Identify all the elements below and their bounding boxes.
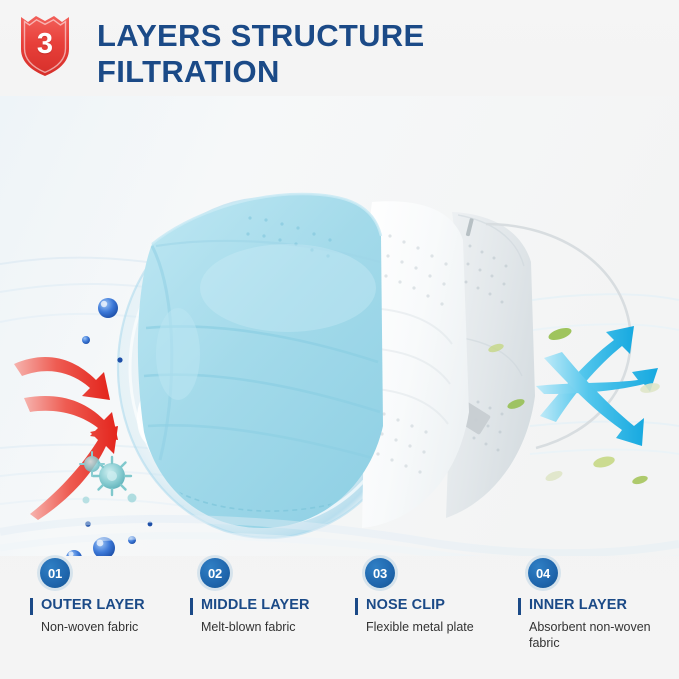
mask-illustration <box>0 96 679 556</box>
title-line-1: LAYERS STRUCTURE <box>97 18 657 54</box>
legend-item-outer-layer[interactable]: 01 OUTER LAYER Non-woven fabric <box>30 558 190 635</box>
title-line-2: FILTRATION <box>97 54 657 90</box>
legend-badge-number: 04 <box>528 558 558 588</box>
legend-rule <box>518 598 521 615</box>
legend-rule <box>355 598 358 615</box>
legend-title: INNER LAYER <box>529 597 678 614</box>
legend-item-nose-clip[interactable]: 03 NOSE CLIP Flexible metal plate <box>355 558 515 635</box>
legend-title: NOSE CLIP <box>366 597 515 614</box>
legend-desc: Melt-blown fabric <box>201 619 350 635</box>
legend-item-middle-layer[interactable]: 02 MIDDLE LAYER Melt-blown fabric <box>190 558 350 635</box>
mask-layer-outer-blue <box>138 194 383 528</box>
legend-rule <box>190 598 193 615</box>
legend-desc: Absorbent non-woven fabric <box>529 619 669 651</box>
page-title: LAYERS STRUCTURE FILTRATION <box>97 18 657 90</box>
legend-badge-number: 02 <box>200 558 230 588</box>
shield-icon: 3 <box>16 13 74 79</box>
legend-badge-03: 03 <box>365 558 395 588</box>
legend: 01 OUTER LAYER Non-woven fabric 02 MIDDL… <box>0 558 679 679</box>
infographic-page: 3 LAYERS STRUCTURE FILTRATION <box>0 0 679 679</box>
legend-badge-number: 03 <box>365 558 395 588</box>
legend-desc: Flexible metal plate <box>366 619 515 635</box>
shield-number: 3 <box>16 13 74 79</box>
legend-desc: Non-woven fabric <box>41 619 190 635</box>
legend-item-inner-layer[interactable]: 04 INNER LAYER Absorbent non-woven fabri… <box>518 558 678 651</box>
legend-rule <box>30 598 33 615</box>
legend-badge-04: 04 <box>528 558 558 588</box>
legend-badge-02: 02 <box>200 558 230 588</box>
legend-badge-number: 01 <box>40 558 70 588</box>
header: 3 LAYERS STRUCTURE FILTRATION <box>0 0 679 100</box>
legend-badge-01: 01 <box>40 558 70 588</box>
legend-title: OUTER LAYER <box>41 597 190 614</box>
legend-title: MIDDLE LAYER <box>201 597 350 614</box>
